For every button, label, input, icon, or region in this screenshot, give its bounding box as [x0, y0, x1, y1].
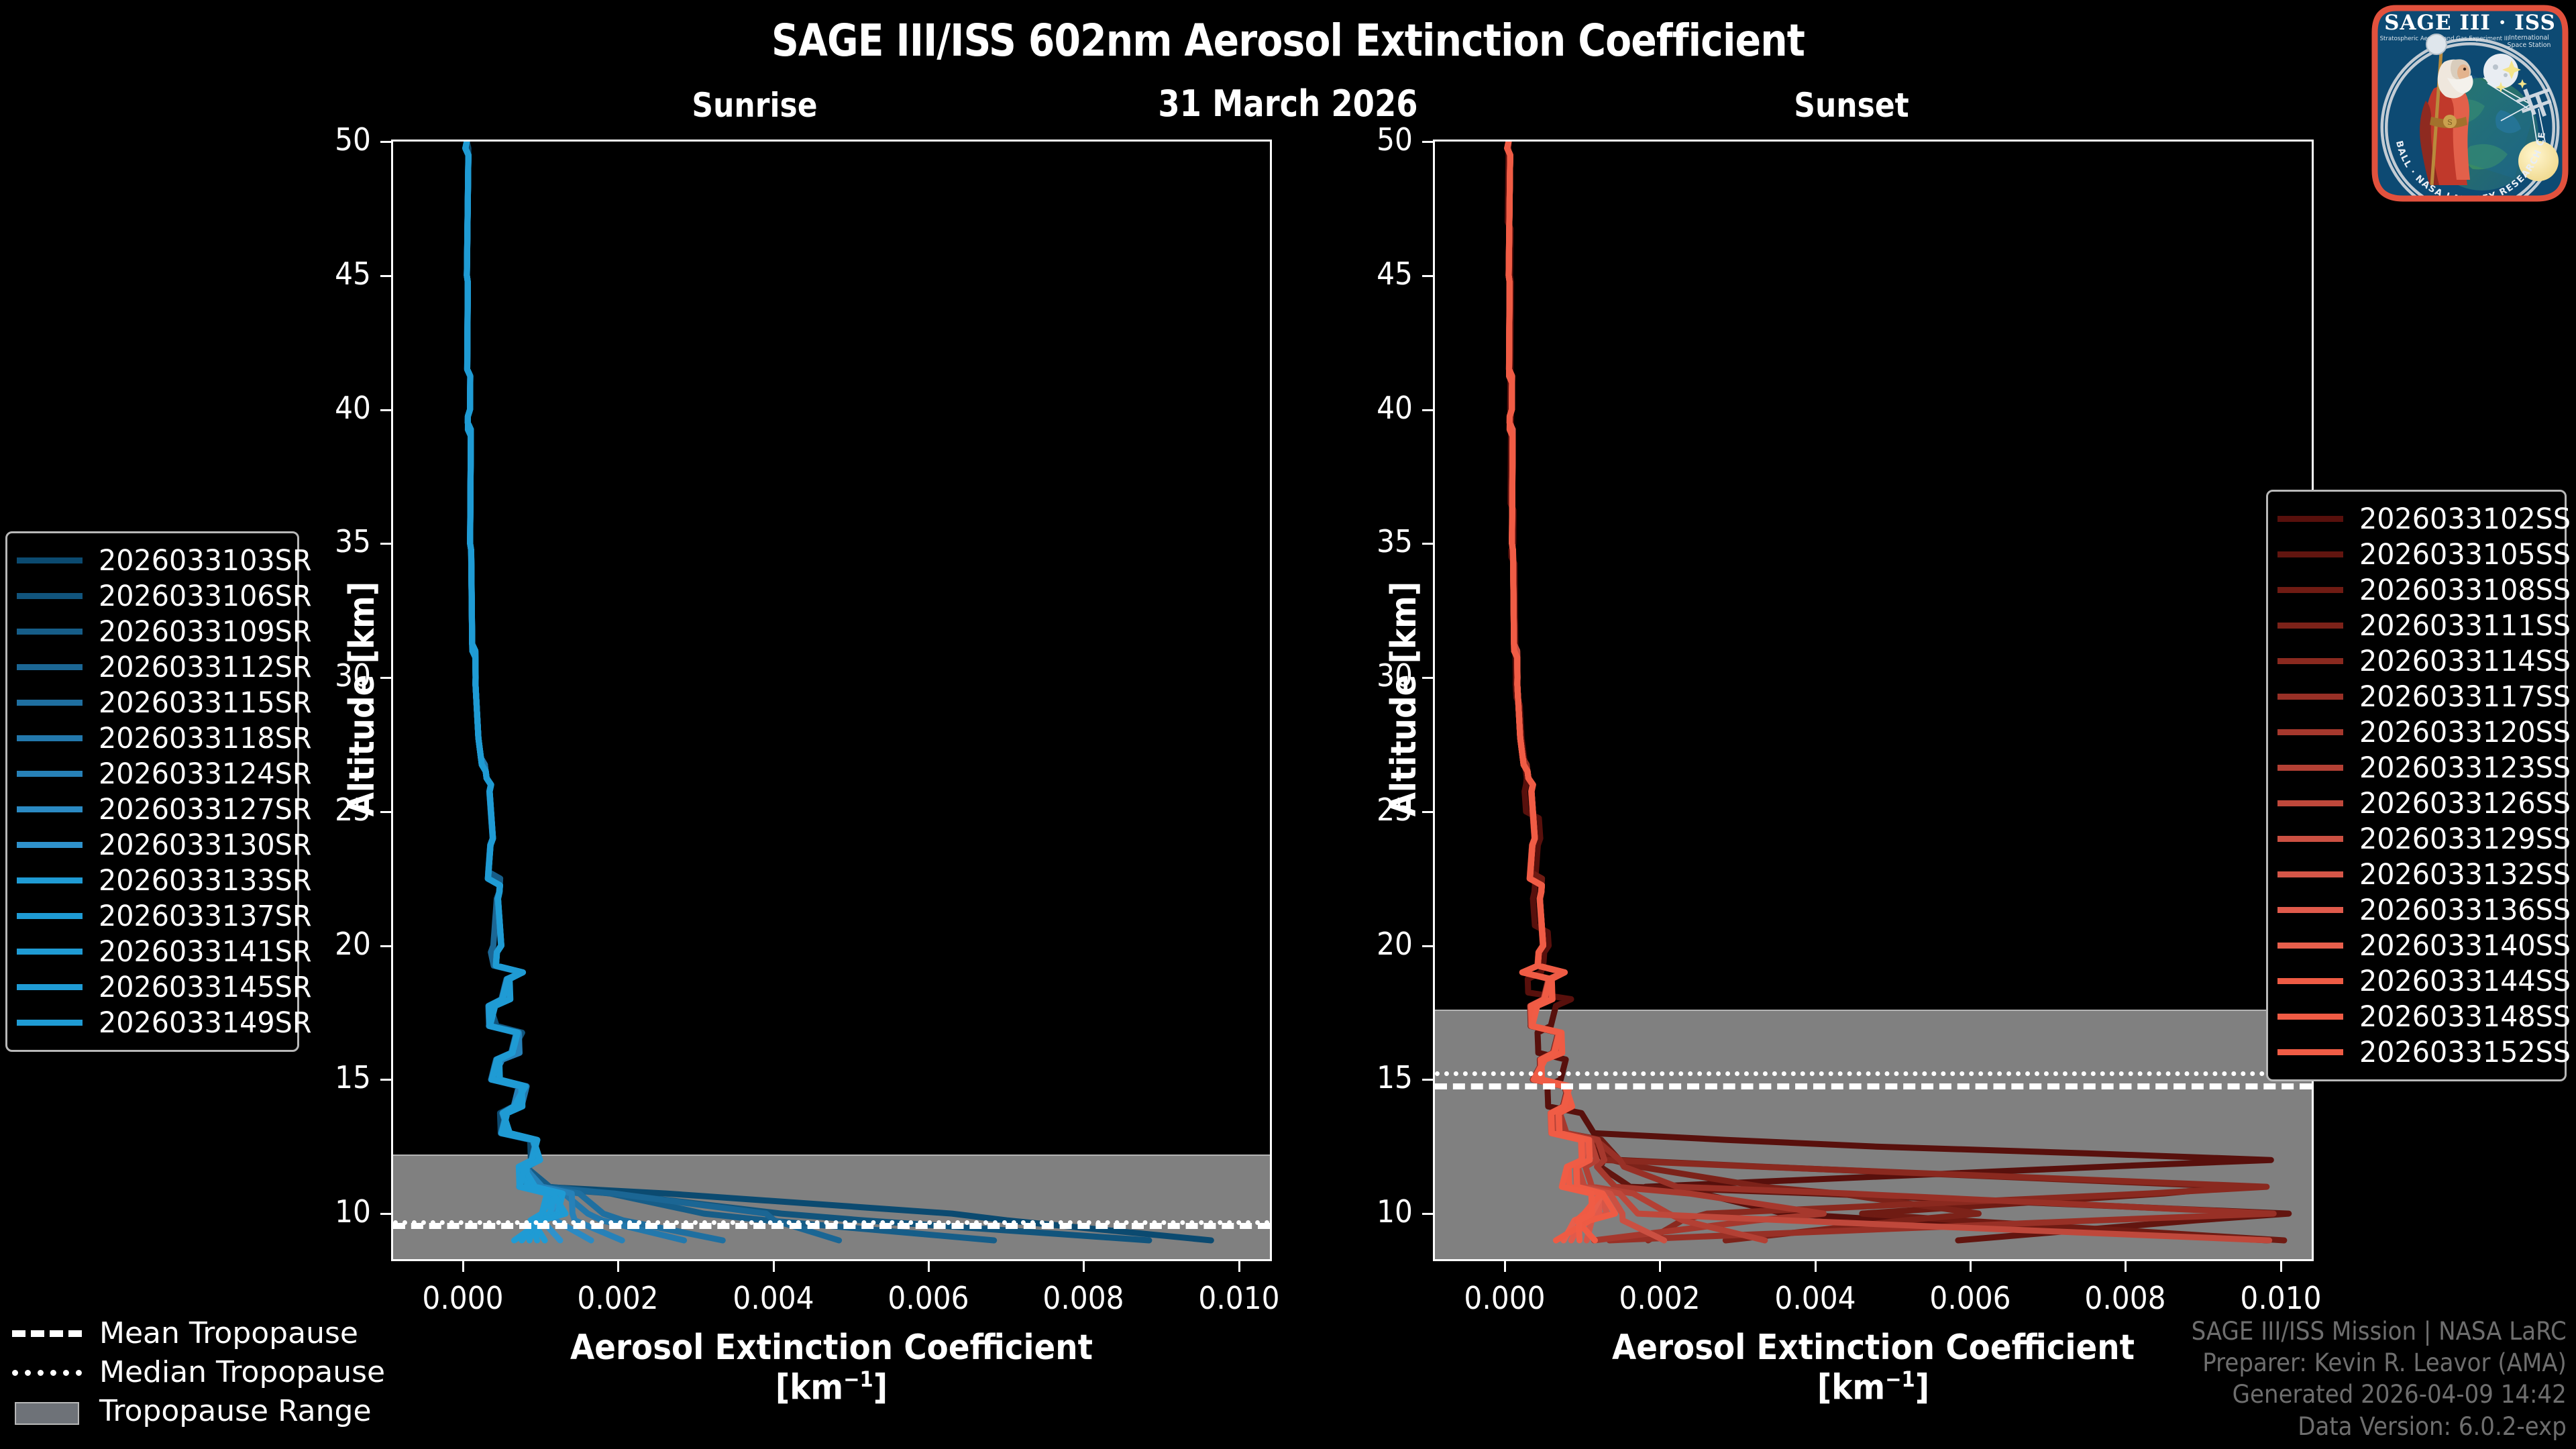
y-tick-label: 10: [1308, 1193, 1413, 1230]
legend-color-swatch: [2277, 694, 2343, 700]
legend-color-swatch: [2277, 587, 2343, 593]
x-tick-label: 0.000: [1424, 1280, 1585, 1316]
legend-item[interactable]: 2026033112SR: [17, 649, 285, 685]
x-tick-label: 0.004: [693, 1280, 853, 1316]
credits-line-generated: Generated 2026-04-09 14:42: [2192, 1379, 2567, 1410]
y-axis-label-sunset: Altitude [km]: [1384, 542, 1424, 856]
legend-item-label: 2026033148SS: [2359, 1000, 2571, 1034]
legend-item[interactable]: 2026033126SS: [2277, 786, 2553, 821]
x-tick-label: 0.008: [2045, 1280, 2206, 1316]
legend-item[interactable]: 2026033103SR: [17, 543, 285, 578]
y-tick-label: 45: [266, 256, 371, 292]
svg-text:International: International: [2509, 34, 2549, 42]
legend-item-label: 2026033117SS: [2359, 680, 2571, 714]
credits-line-mission: SAGE III/ISS Mission | NASA LaRC: [2192, 1316, 2567, 1347]
x-tick-label: 0.002: [1580, 1280, 1740, 1316]
legend-label-tropopause-range: Tropopause Range: [99, 1394, 372, 1428]
legend-item[interactable]: 2026033133SR: [17, 863, 285, 898]
legend-color-swatch: [17, 1020, 83, 1026]
x-tick-mark: [1659, 1261, 1661, 1272]
legend-item-label: 2026033111SS: [2359, 609, 2571, 643]
mission-patch-icon: S SAGE III · ISS Stratospheric Aerosol a…: [2369, 3, 2571, 204]
profile-line: [466, 142, 723, 1240]
credits-line-preparer: Preparer: Kevin R. Leavor (AMA): [2192, 1347, 2567, 1379]
legend-item-label: 2026033141SR: [99, 935, 312, 969]
legend-item-label: 2026033127SR: [99, 793, 312, 826]
x-tick-label: 0.008: [1004, 1280, 1164, 1316]
x-tick-label: 0.006: [848, 1280, 1008, 1316]
profile-line: [466, 142, 1149, 1240]
legend-item-label: 2026033126SS: [2359, 787, 2571, 820]
legend-item-mean-tropopause: Mean Tropopause: [12, 1313, 388, 1352]
profile-line: [466, 142, 623, 1240]
legend-item-label: 2026033115SR: [99, 686, 312, 720]
legend-color-swatch: [17, 629, 83, 635]
x-tick-mark: [2280, 1261, 2282, 1272]
figure-canvas: SAGE III/ISS 602nm Aerosol Extinction Co…: [0, 0, 2576, 1449]
svg-text:Stratospheric Aerosol and Gas: Stratospheric Aerosol and Gas Experiment…: [2380, 36, 2510, 42]
y-tick-mark: [380, 945, 391, 947]
legend-color-swatch: [2277, 623, 2343, 629]
x-tick-mark: [1970, 1261, 1972, 1272]
legend-color-swatch: [17, 842, 83, 848]
y-tick-label: 50: [266, 121, 371, 158]
legend-item-label: 2026033103SR: [99, 544, 312, 578]
legend-item[interactable]: 2026033109SR: [17, 614, 285, 649]
legend-color-swatch: [2277, 729, 2343, 735]
svg-text:SAGE III · ISS: SAGE III · ISS: [2384, 11, 2556, 35]
profile-curves: [393, 142, 1270, 1259]
median-tropopause-line: [1435, 1071, 2312, 1076]
legend-color-swatch: [2277, 978, 2343, 984]
legend-sunrise-events[interactable]: 2026033103SR2026033106SR2026033109SR2026…: [5, 531, 299, 1052]
credits-block: SAGE III/ISS Mission | NASA LaRC Prepare…: [2192, 1316, 2567, 1442]
legend-color-swatch: [17, 984, 83, 990]
y-tick-mark: [1422, 275, 1433, 277]
y-tick-mark: [1422, 945, 1433, 947]
legend-item[interactable]: 2026033130SR: [17, 827, 285, 863]
legend-color-swatch: [17, 806, 83, 812]
legend-item-label: 2026033140SS: [2359, 929, 2571, 963]
profile-line: [466, 142, 591, 1240]
y-tick-mark: [1422, 409, 1433, 411]
legend-item-label: 2026033149SR: [99, 1006, 312, 1040]
legend-item-label: 2026033130SR: [99, 828, 312, 862]
legend-color-swatch: [2277, 551, 2343, 557]
y-tick-label: 45: [1308, 256, 1413, 292]
legend-item-label: 2026033118SR: [99, 722, 312, 755]
y-tick-label: 15: [266, 1059, 371, 1095]
legend-item[interactable]: 2026033111SS: [2277, 608, 2553, 643]
x-tick-label: 0.002: [538, 1280, 698, 1316]
legend-color-swatch: [17, 771, 83, 777]
mean-tropopause-line: [1435, 1083, 2312, 1089]
profile-line: [466, 142, 561, 1240]
profile-line: [466, 142, 566, 1240]
svg-text:Space Station: Space Station: [2508, 42, 2551, 49]
legend-item-label: 2026033136SS: [2359, 894, 2571, 927]
y-tick-label: 50: [1308, 121, 1413, 158]
legend-item[interactable]: 2026033144SS: [2277, 963, 2553, 999]
x-tick-label: 0.006: [1890, 1280, 2050, 1316]
legend-tropopause: Mean Tropopause Median Tropopause Tropop…: [12, 1313, 388, 1430]
y-tick-label: 15: [1308, 1059, 1413, 1095]
legend-color-swatch: [17, 700, 83, 706]
x-tick-mark: [1083, 1261, 1085, 1272]
legend-color-swatch: [17, 557, 83, 563]
figure-subtitle: 31 March 2026: [180, 83, 2396, 125]
legend-item[interactable]: 2026033145SR: [17, 969, 285, 1005]
panel-title-sunrise: Sunrise: [660, 86, 849, 125]
legend-item[interactable]: 2026033105SS: [2277, 537, 2553, 572]
legend-item[interactable]: 2026033115SR: [17, 685, 285, 720]
legend-color-swatch: [2277, 516, 2343, 522]
x-axis-label-sunset: Aerosol Extinction Coefficient[km−1]: [1477, 1328, 2270, 1407]
legend-item-label: 2026033105SS: [2359, 538, 2571, 572]
legend-label-median-tropopause: Median Tropopause: [99, 1355, 385, 1389]
y-tick-label: 10: [266, 1193, 371, 1230]
svg-text:S: S: [2447, 118, 2453, 127]
x-tick-mark: [462, 1261, 464, 1272]
legend-color-swatch: [2277, 907, 2343, 913]
profile-line: [466, 142, 839, 1240]
y-axis-label-sunrise: Altitude [km]: [342, 542, 382, 856]
legend-item-tropopause-range: Tropopause Range: [12, 1391, 388, 1430]
legend-item-label: 2026033112SR: [99, 651, 312, 684]
y-tick-mark: [1422, 1213, 1433, 1215]
legend-color-swatch: [2277, 836, 2343, 842]
credits-line-version: Data Version: 6.0.2-exp: [2192, 1411, 2567, 1442]
legend-item-label: 2026033152SS: [2359, 1036, 2571, 1069]
y-tick-mark: [380, 275, 391, 277]
legend-item[interactable]: 2026033114SS: [2277, 643, 2553, 679]
legend-item[interactable]: 2026033118SR: [17, 720, 285, 756]
y-tick-label: 40: [266, 390, 371, 426]
y-tick-mark: [1422, 1079, 1433, 1081]
dotted-line-icon: [12, 1363, 82, 1381]
legend-item-label: 2026033145SR: [99, 971, 312, 1004]
y-tick-mark: [380, 1079, 391, 1081]
legend-item[interactable]: 2026033117SS: [2277, 679, 2553, 714]
x-tick-label: 0.010: [2200, 1280, 2361, 1316]
legend-item[interactable]: 2026033141SR: [17, 934, 285, 969]
legend-item-label: 2026033137SR: [99, 900, 312, 933]
page-title: SAGE III/ISS 602nm Aerosol Extinction Co…: [180, 15, 2396, 66]
legend-sunset-events[interactable]: 2026033102SS2026033105SS2026033108SS2026…: [2266, 490, 2567, 1081]
legend-color-swatch: [2277, 1014, 2343, 1020]
legend-item-median-tropopause: Median Tropopause: [12, 1352, 388, 1391]
legend-item-label: 2026033129SS: [2359, 822, 2571, 856]
plot-area-sunrise: [391, 140, 1272, 1261]
legend-item-label: 2026033102SS: [2359, 502, 2571, 536]
legend-item-label: 2026033106SR: [99, 580, 312, 613]
filled-patch-icon: [12, 1402, 82, 1419]
y-tick-label: 20: [1308, 926, 1413, 962]
x-tick-mark: [1238, 1261, 1240, 1272]
legend-item[interactable]: 2026033108SS: [2277, 572, 2553, 608]
legend-item-label: 2026033132SS: [2359, 858, 2571, 892]
x-tick-mark: [1504, 1261, 1506, 1272]
legend-item-label: 2026033120SS: [2359, 716, 2571, 749]
legend-label-mean-tropopause: Mean Tropopause: [99, 1316, 358, 1350]
x-tick-mark: [928, 1261, 930, 1272]
y-tick-mark: [380, 1213, 391, 1215]
plot-area-sunset: [1433, 140, 2314, 1261]
legend-item[interactable]: 2026033140SS: [2277, 928, 2553, 963]
legend-color-swatch: [2277, 871, 2343, 877]
legend-item-label: 2026033144SS: [2359, 965, 2571, 998]
x-tick-label: 0.010: [1159, 1280, 1319, 1316]
profile-curves: [1435, 142, 2312, 1259]
legend-color-swatch: [17, 913, 83, 919]
legend-item[interactable]: 2026033127SR: [17, 792, 285, 827]
legend-item[interactable]: 2026033152SS: [2277, 1034, 2553, 1070]
legend-item[interactable]: 2026033124SR: [17, 756, 285, 792]
y-tick-label: 40: [1308, 390, 1413, 426]
legend-item-label: 2026033123SS: [2359, 751, 2571, 785]
legend-item[interactable]: 2026033132SS: [2277, 857, 2553, 892]
mean-tropopause-line: [393, 1223, 1270, 1229]
x-tick-mark: [1815, 1261, 1817, 1272]
x-axis-label-sunrise: Aerosol Extinction Coefficient[km−1]: [435, 1328, 1228, 1407]
legend-color-swatch: [17, 877, 83, 883]
legend-color-swatch: [17, 949, 83, 955]
legend-item-label: 2026033108SS: [2359, 574, 2571, 607]
x-tick-mark: [773, 1261, 775, 1272]
y-tick-mark: [380, 141, 391, 143]
legend-item[interactable]: 2026033136SS: [2277, 892, 2553, 928]
legend-item[interactable]: 2026033106SR: [17, 578, 285, 614]
sage-iii-iss-logo: S SAGE III · ISS Stratospheric Aerosol a…: [2369, 3, 2571, 204]
profile-line: [466, 142, 563, 1240]
legend-color-swatch: [2277, 800, 2343, 806]
x-tick-label: 0.004: [1735, 1280, 1895, 1316]
profile-line: [466, 142, 994, 1240]
legend-item[interactable]: 2026033120SS: [2277, 714, 2553, 750]
profile-line: [467, 142, 1212, 1240]
legend-color-swatch: [2277, 1049, 2343, 1055]
legend-item[interactable]: 2026033102SS: [2277, 501, 2553, 537]
dashed-line-icon: [12, 1324, 82, 1342]
legend-color-swatch: [2277, 658, 2343, 664]
legend-item[interactable]: 2026033123SS: [2277, 750, 2553, 786]
legend-color-swatch: [2277, 765, 2343, 771]
legend-color-swatch: [17, 735, 83, 741]
legend-item[interactable]: 2026033149SR: [17, 1005, 285, 1040]
legend-item-label: 2026033109SR: [99, 615, 312, 649]
legend-color-swatch: [17, 664, 83, 670]
legend-item[interactable]: 2026033129SS: [2277, 821, 2553, 857]
legend-item-label: 2026033124SR: [99, 757, 312, 791]
legend-item-label: 2026033114SS: [2359, 645, 2571, 678]
x-tick-mark: [617, 1261, 619, 1272]
legend-item-label: 2026033133SR: [99, 864, 312, 898]
panel-title-sunset: Sunset: [1757, 86, 1946, 125]
legend-color-swatch: [2277, 943, 2343, 949]
y-tick-mark: [380, 409, 391, 411]
legend-color-swatch: [17, 593, 83, 599]
legend-item[interactable]: 2026033137SR: [17, 898, 285, 934]
x-tick-mark: [2125, 1261, 2127, 1272]
x-tick-label: 0.000: [382, 1280, 543, 1316]
legend-item[interactable]: 2026033148SS: [2277, 999, 2553, 1034]
y-tick-mark: [1422, 141, 1433, 143]
